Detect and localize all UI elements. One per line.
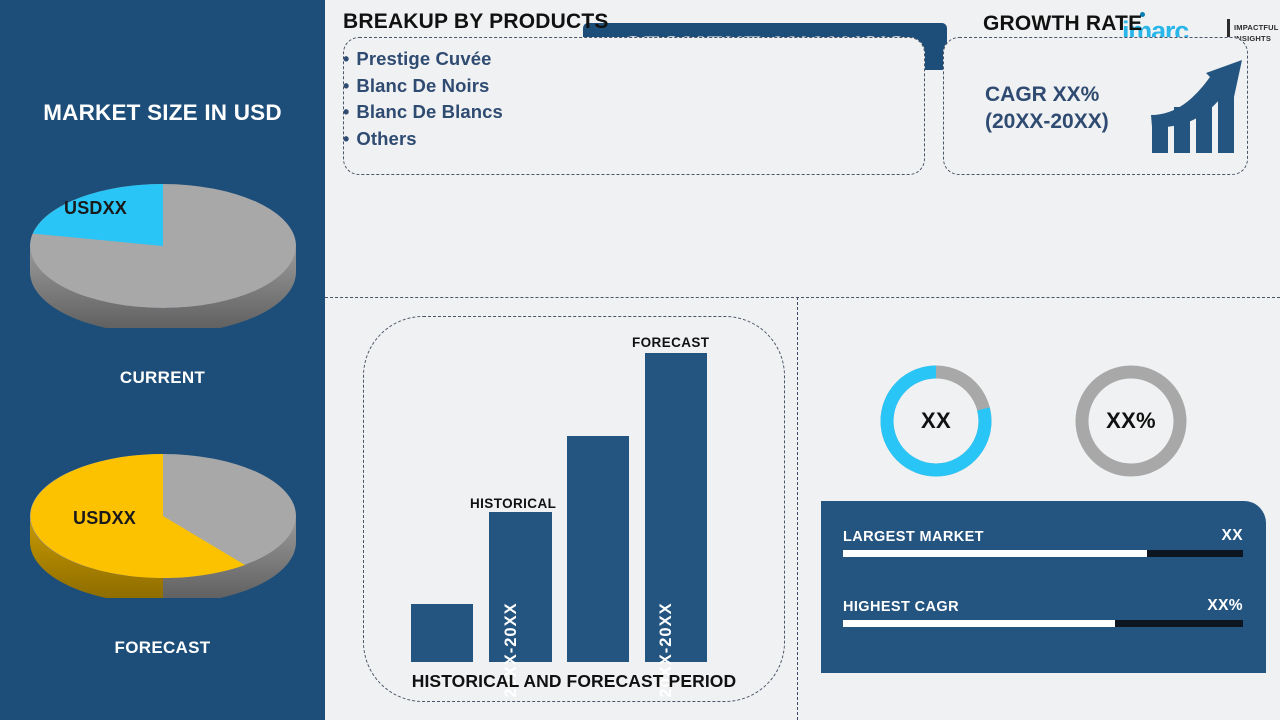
- bar-chart-caption: HISTORICAL AND FORECAST PERIOD: [363, 671, 785, 692]
- stat-fill: [843, 620, 1115, 627]
- stat-track: [843, 620, 1243, 627]
- forecast-pie-chart: [23, 438, 303, 598]
- stat-label: HIGHEST CAGR: [843, 599, 959, 615]
- market-count-donut-value: XX: [876, 361, 996, 481]
- bar-4: 20XX-20XX: [645, 353, 707, 662]
- market-share-donut-value: XX%: [1071, 361, 1191, 481]
- forecast-pie-block: USDXX FORECAST: [0, 438, 325, 658]
- horizontal-divider: [325, 297, 1280, 298]
- growth-arrow-bars-icon: [1150, 55, 1245, 153]
- logo-tagline-line1: IMPACTFUL: [1234, 23, 1279, 32]
- period-bar-chart: 20XX-20XX 20XX-20XX HISTORICAL FORECAST …: [363, 316, 785, 702]
- bullet-icon: •: [343, 130, 349, 148]
- segment-analysis-stage: SEGMENT ANALYSIS imarc IMPACTFUL INSIGHT…: [325, 0, 1280, 720]
- bars-plot: 20XX-20XX 20XX-20XX: [363, 316, 785, 662]
- growth-heading: GROWTH RATE: [983, 12, 1142, 36]
- stat-label: LARGEST MARKET: [843, 529, 984, 545]
- bar-3: [567, 436, 629, 662]
- list-item-label: Others: [356, 128, 416, 150]
- growth-cagr-text: CAGR XX% (20XX-20XX): [985, 82, 1109, 136]
- bar-2: 20XX-20XX: [489, 512, 552, 662]
- current-pie-value: USDXX: [64, 198, 127, 219]
- stat-value: XX: [1222, 527, 1243, 545]
- historical-annotation: HISTORICAL: [470, 496, 556, 511]
- stat-fill: [843, 550, 1147, 557]
- current-pie-label: CURRENT: [0, 368, 325, 388]
- growth-cagr-line1: CAGR XX%: [985, 82, 1109, 109]
- current-pie-holder: USDXX: [0, 168, 325, 328]
- products-list: • Prestige Cuvée • Blanc De Noirs • Blan…: [343, 48, 503, 154]
- list-item: • Others: [343, 128, 503, 150]
- stat-track: [843, 550, 1243, 557]
- bullet-icon: •: [343, 77, 349, 95]
- market-size-sidebar: MARKET SIZE IN USD USDXX CURRENT: [0, 0, 325, 720]
- list-item: • Blanc De Blancs: [343, 101, 503, 123]
- forecast-pie-label: FORECAST: [0, 638, 325, 658]
- market-share-donut: XX%: [1071, 361, 1191, 481]
- list-item: • Prestige Cuvée: [343, 48, 503, 70]
- bullet-icon: •: [343, 103, 349, 121]
- growth-cagr-line2: (20XX-20XX): [985, 109, 1109, 136]
- bullet-icon: •: [343, 50, 349, 68]
- forecast-pie-value: USDXX: [73, 508, 136, 529]
- bar-1: [411, 604, 473, 662]
- sidebar-title: MARKET SIZE IN USD: [0, 100, 325, 126]
- current-pie-block: USDXX CURRENT: [0, 168, 325, 388]
- key-stats-panel: LARGEST MARKET XX HIGHEST CAGR XX%: [821, 501, 1266, 673]
- list-item-label: Blanc De Blancs: [356, 101, 502, 123]
- list-item-label: Prestige Cuvée: [356, 48, 491, 70]
- products-heading: BREAKUP BY PRODUCTS: [343, 10, 609, 34]
- forecast-annotation: FORECAST: [632, 335, 709, 350]
- vertical-divider: [797, 297, 798, 720]
- stat-value: XX%: [1207, 597, 1243, 615]
- market-count-donut: XX: [876, 361, 996, 481]
- list-item: • Blanc De Noirs: [343, 75, 503, 97]
- forecast-pie-holder: USDXX: [0, 438, 325, 598]
- current-pie-chart: [23, 168, 303, 328]
- list-item-label: Blanc De Noirs: [356, 75, 489, 97]
